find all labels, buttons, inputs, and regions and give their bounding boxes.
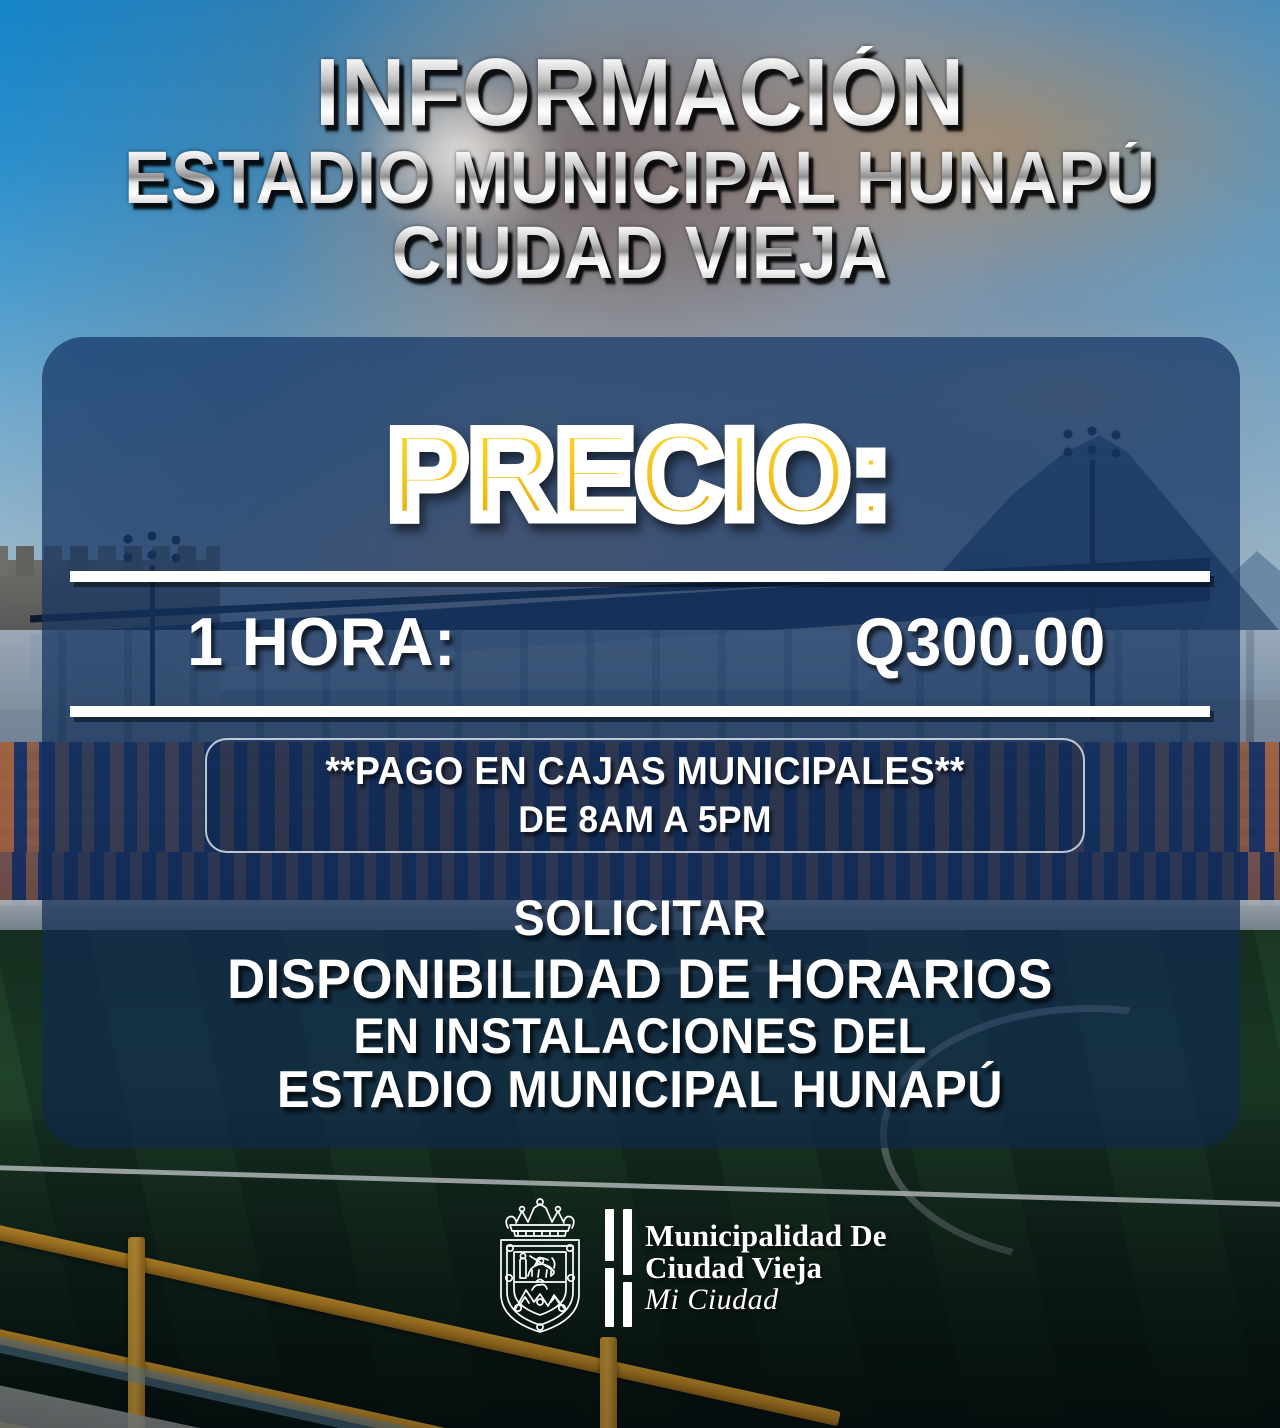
logo-line-2: Ciudad Vieja: [645, 1252, 887, 1284]
logo-bar: [605, 1209, 614, 1261]
poster: INFORMACIÓN ESTADIO MUNICIPAL HUNAPÚ CIU…: [0, 0, 1280, 1428]
logo-bar: [605, 1268, 614, 1327]
request-block: SOLICITAR DISPONIBILIDAD DE HORARIOS EN …: [0, 893, 1280, 1117]
price-row: 1 HORA: Q300.00: [70, 596, 1210, 688]
request-line-4: ESTADIO MUNICIPAL HUNAPÚ: [38, 1064, 1241, 1117]
logo-bar: [623, 1282, 632, 1327]
logo-line-1: Municipalidad De: [645, 1220, 887, 1252]
logo-text: Municipalidad De Ciudad Vieja Mi Ciudad: [645, 1220, 887, 1316]
price-heading-text: PRECIO:: [388, 404, 892, 546]
logo-tagline: Mi Ciudad: [645, 1285, 887, 1316]
logo-bar: [623, 1209, 632, 1275]
payment-note-line-1: **PAGO EN CAJAS MUNICIPALES**: [325, 750, 964, 794]
request-line-2: DISPONIBILIDAD DE HORARIOS: [38, 950, 1241, 1007]
municipality-logo: Municipalidad De Ciudad Vieja Mi Ciudad: [488, 1198, 887, 1338]
payment-note-box: **PAGO EN CAJAS MUNICIPALES** DE 8AM A 5…: [205, 738, 1085, 853]
request-line-3: EN INSTALACIONES DEL: [38, 1011, 1241, 1062]
coat-of-arms-shield-icon: [488, 1198, 592, 1338]
price-heading: PRECIO:: [0, 404, 1280, 546]
divider-rule-top: [70, 571, 1210, 582]
divider-rule-bottom: [70, 706, 1210, 717]
request-line-1: SOLICITAR: [38, 893, 1241, 944]
logo-divider-bars-second: [623, 1209, 632, 1327]
payment-note-line-2: DE 8AM A 5PM: [518, 799, 771, 841]
logo-divider-bars: [605, 1209, 614, 1327]
price-duration-label: 1 HORA:: [187, 603, 456, 681]
price-amount-value: Q300.00: [854, 603, 1105, 681]
